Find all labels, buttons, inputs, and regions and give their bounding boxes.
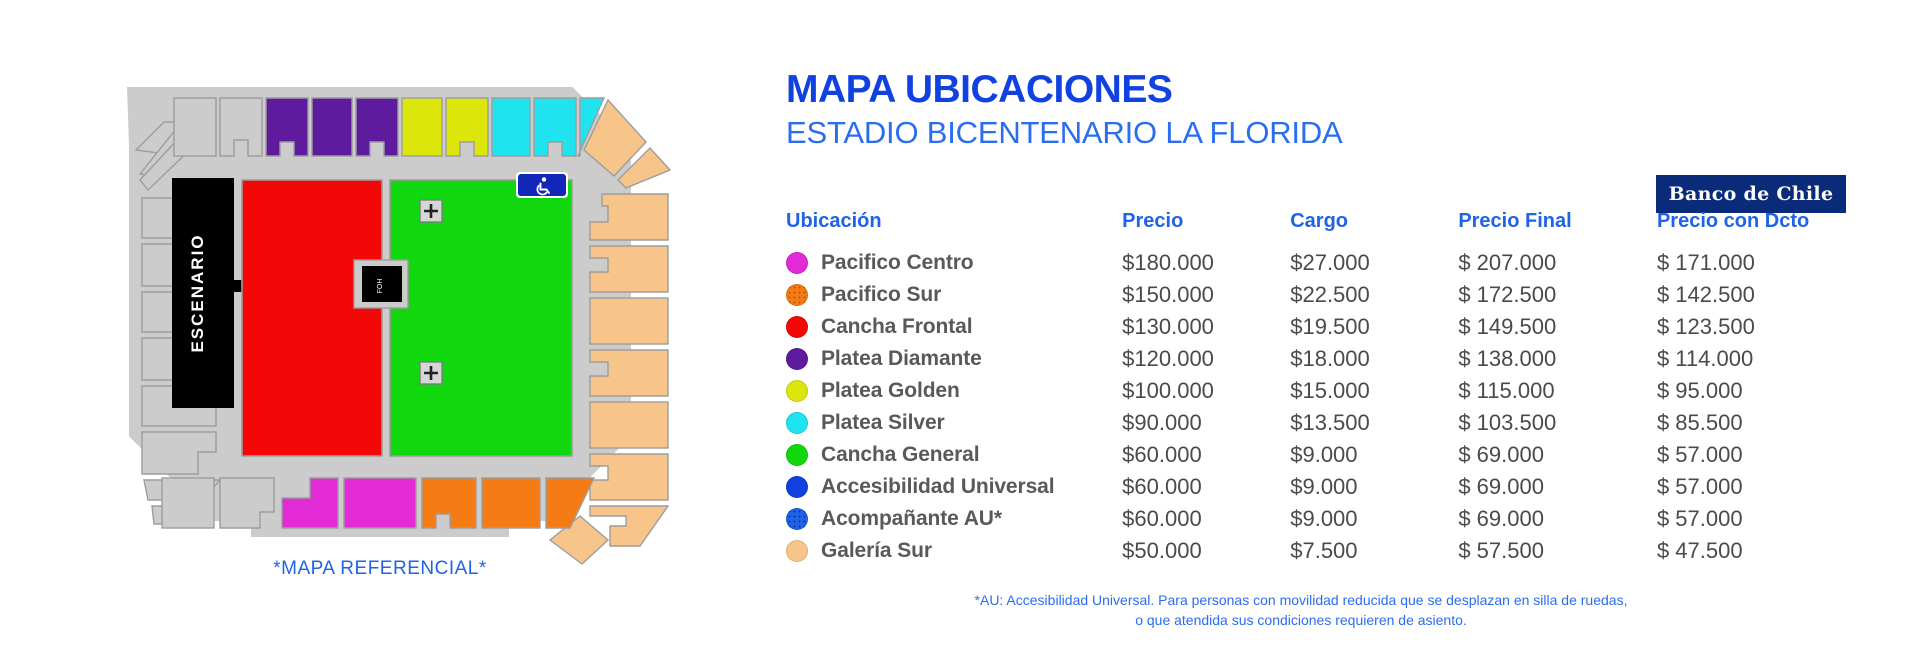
foh-booth: FOH: [354, 260, 408, 308]
cell-cargo: $15.000: [1290, 375, 1458, 407]
cell-precio: $180.000: [1122, 247, 1290, 279]
map-section-cancha-frontal[interactable]: [242, 180, 382, 456]
legend-color-dot: [786, 444, 808, 466]
column-header-precio: Precio: [1122, 210, 1290, 247]
ubicacion-label: Pacifico Sur: [821, 283, 941, 307]
cell-ubicacion: Cancha Frontal: [786, 311, 1122, 343]
ubicacion-label: Accesibilidad Universal: [821, 475, 1054, 499]
legend-color-dot: [786, 412, 808, 434]
table-body: Pacifico Centro$180.000$27.000$ 207.000$…: [786, 247, 1876, 567]
foh-label: FOH: [377, 279, 384, 294]
legend-color-dot: [786, 540, 808, 562]
legend-color-dot: [786, 508, 808, 530]
cell-precio-dcto: $ 57.000: [1657, 439, 1876, 471]
cell-cargo: $9.000: [1290, 439, 1458, 471]
cell-ubicacion: Pacifico Centro: [786, 247, 1122, 279]
legend-color-dot: [786, 348, 808, 370]
cell-precio: $90.000: [1122, 407, 1290, 439]
cell-precio-dcto: $ 142.500: [1657, 279, 1876, 311]
cell-ubicacion: Accesibilidad Universal: [786, 471, 1122, 503]
column-header-precio-dcto: Precio con Dcto: [1657, 210, 1876, 247]
legend-color-dot: [786, 476, 808, 498]
ubicacion-label: Cancha Frontal: [821, 315, 972, 339]
cell-precio-final: $ 103.500: [1458, 407, 1657, 439]
ubicacion-label: Platea Golden: [821, 379, 960, 403]
legend-color-dot: [786, 252, 808, 274]
legend-color-dot: [786, 380, 808, 402]
cell-precio-dcto: $ 57.000: [1657, 471, 1876, 503]
cell-cargo: $18.000: [1290, 343, 1458, 375]
cell-cargo: $7.500: [1290, 535, 1458, 567]
cell-cargo: $9.000: [1290, 471, 1458, 503]
column-header-ubicacion: Ubicación: [786, 210, 1122, 247]
cell-precio-final: $ 69.000: [1458, 439, 1657, 471]
cell-precio-dcto: $ 57.000: [1657, 503, 1876, 535]
page-title: MAPA UBICACIONES: [786, 70, 1876, 111]
cell-precio: $130.000: [1122, 311, 1290, 343]
legend-color-dot: [786, 316, 808, 338]
ubicacion-label: Platea Diamante: [821, 347, 982, 371]
cell-precio: $60.000: [1122, 439, 1290, 471]
footnote-line-2: o que atendida sus condiciones requieren…: [786, 610, 1816, 630]
cell-precio-final: $ 69.000: [1458, 471, 1657, 503]
cell-precio: $60.000: [1122, 471, 1290, 503]
table-row[interactable]: Pacifico Centro$180.000$27.000$ 207.000$…: [786, 247, 1876, 279]
stage-label: ESCENARIO: [188, 233, 207, 352]
cell-precio: $120.000: [1122, 343, 1290, 375]
table-row[interactable]: Platea Silver$90.000$13.500$ 103.500$ 85…: [786, 407, 1876, 439]
cell-precio-dcto: $ 47.500: [1657, 535, 1876, 567]
footnote-line-1: *AU: Accesibilidad Universal. Para perso…: [786, 590, 1816, 610]
info-panel: MAPA UBICACIONES ESTADIO BICENTENARIO LA…: [786, 70, 1876, 630]
ubicacion-label: Platea Silver: [821, 411, 945, 435]
wheelchair-icon[interactable]: [516, 172, 568, 198]
table-row[interactable]: Platea Golden$100.000$15.000$ 115.000$ 9…: [786, 375, 1876, 407]
cell-precio-dcto: $ 95.000: [1657, 375, 1876, 407]
table-row[interactable]: Galería Sur$50.000$7.500$ 57.500$ 47.500: [786, 535, 1876, 567]
cell-ubicacion: Platea Silver: [786, 407, 1122, 439]
plus-icon-upper: [420, 200, 442, 222]
cell-ubicacion: Platea Golden: [786, 375, 1122, 407]
cell-ubicacion: Platea Diamante: [786, 343, 1122, 375]
table-row[interactable]: Cancha General$60.000$9.000$ 69.000$ 57.…: [786, 439, 1876, 471]
cell-precio-final: $ 149.500: [1458, 311, 1657, 343]
table-row[interactable]: Platea Diamante$120.000$18.000$ 138.000$…: [786, 343, 1876, 375]
cell-ubicacion: Acompañante AU*: [786, 503, 1122, 535]
cell-precio-final: $ 172.500: [1458, 279, 1657, 311]
legend-color-dot: [786, 284, 808, 306]
cell-precio: $60.000: [1122, 503, 1290, 535]
ubicacion-label: Cancha General: [821, 443, 980, 467]
table-row[interactable]: Accesibilidad Universal$60.000$9.000$ 69…: [786, 471, 1876, 503]
cell-precio-dcto: $ 114.000: [1657, 343, 1876, 375]
cell-cargo: $13.500: [1290, 407, 1458, 439]
cell-cargo: $22.500: [1290, 279, 1458, 311]
ubicacion-label: Acompañante AU*: [821, 507, 1002, 531]
map-section-cancha-general[interactable]: [390, 180, 572, 456]
cell-cargo: $19.500: [1290, 311, 1458, 343]
column-header-precio-final: Precio Final: [1458, 210, 1657, 247]
ubicacion-label: Galería Sur: [821, 539, 932, 563]
page-subtitle: ESTADIO BICENTENARIO LA FLORIDA: [786, 114, 1876, 151]
cell-precio-final: $ 69.000: [1458, 503, 1657, 535]
cell-precio-final: $ 115.000: [1458, 375, 1657, 407]
ubicacion-label: Pacifico Centro: [821, 251, 974, 275]
table-header-row: Ubicación Precio Cargo Precio Final Prec…: [786, 210, 1876, 247]
column-header-cargo: Cargo: [1290, 210, 1458, 247]
plus-icon-lower: [420, 362, 442, 384]
cell-ubicacion: Galería Sur: [786, 535, 1122, 567]
cell-ubicacion: Cancha General: [786, 439, 1122, 471]
cell-precio: $50.000: [1122, 535, 1290, 567]
cell-ubicacion: Pacifico Sur: [786, 279, 1122, 311]
cell-precio-dcto: $ 123.500: [1657, 311, 1876, 343]
cell-precio-final: $ 57.500: [1458, 535, 1657, 567]
stadium-map-panel: ESCENARIO FOH: [70, 58, 690, 618]
table-row[interactable]: Cancha Frontal$130.000$19.500$ 149.500$ …: [786, 311, 1876, 343]
stadium-map[interactable]: ESCENARIO FOH: [70, 58, 690, 568]
map-caption: *MAPA REFERENCIAL*: [70, 558, 690, 580]
cell-precio: $150.000: [1122, 279, 1290, 311]
cell-cargo: $27.000: [1290, 247, 1458, 279]
table-row[interactable]: Acompañante AU*$60.000$9.000$ 69.000$ 57…: [786, 503, 1876, 535]
footnote: *AU: Accesibilidad Universal. Para perso…: [786, 590, 1816, 631]
cell-precio-dcto: $ 171.000: [1657, 247, 1876, 279]
mapa-ubicaciones-page: ESCENARIO FOH: [0, 0, 1920, 647]
cell-precio-final: $ 138.000: [1458, 343, 1657, 375]
price-table: Ubicación Precio Cargo Precio Final Prec…: [786, 210, 1876, 567]
table-row[interactable]: Pacifico Sur$150.000$22.500$ 172.500$ 14…: [786, 279, 1876, 311]
banco-de-chile-logo: Banco de Chile: [1656, 175, 1846, 213]
cell-cargo: $9.000: [1290, 503, 1458, 535]
cell-precio-final: $ 207.000: [1458, 247, 1657, 279]
cell-precio-dcto: $ 85.500: [1657, 407, 1876, 439]
cell-precio: $100.000: [1122, 375, 1290, 407]
